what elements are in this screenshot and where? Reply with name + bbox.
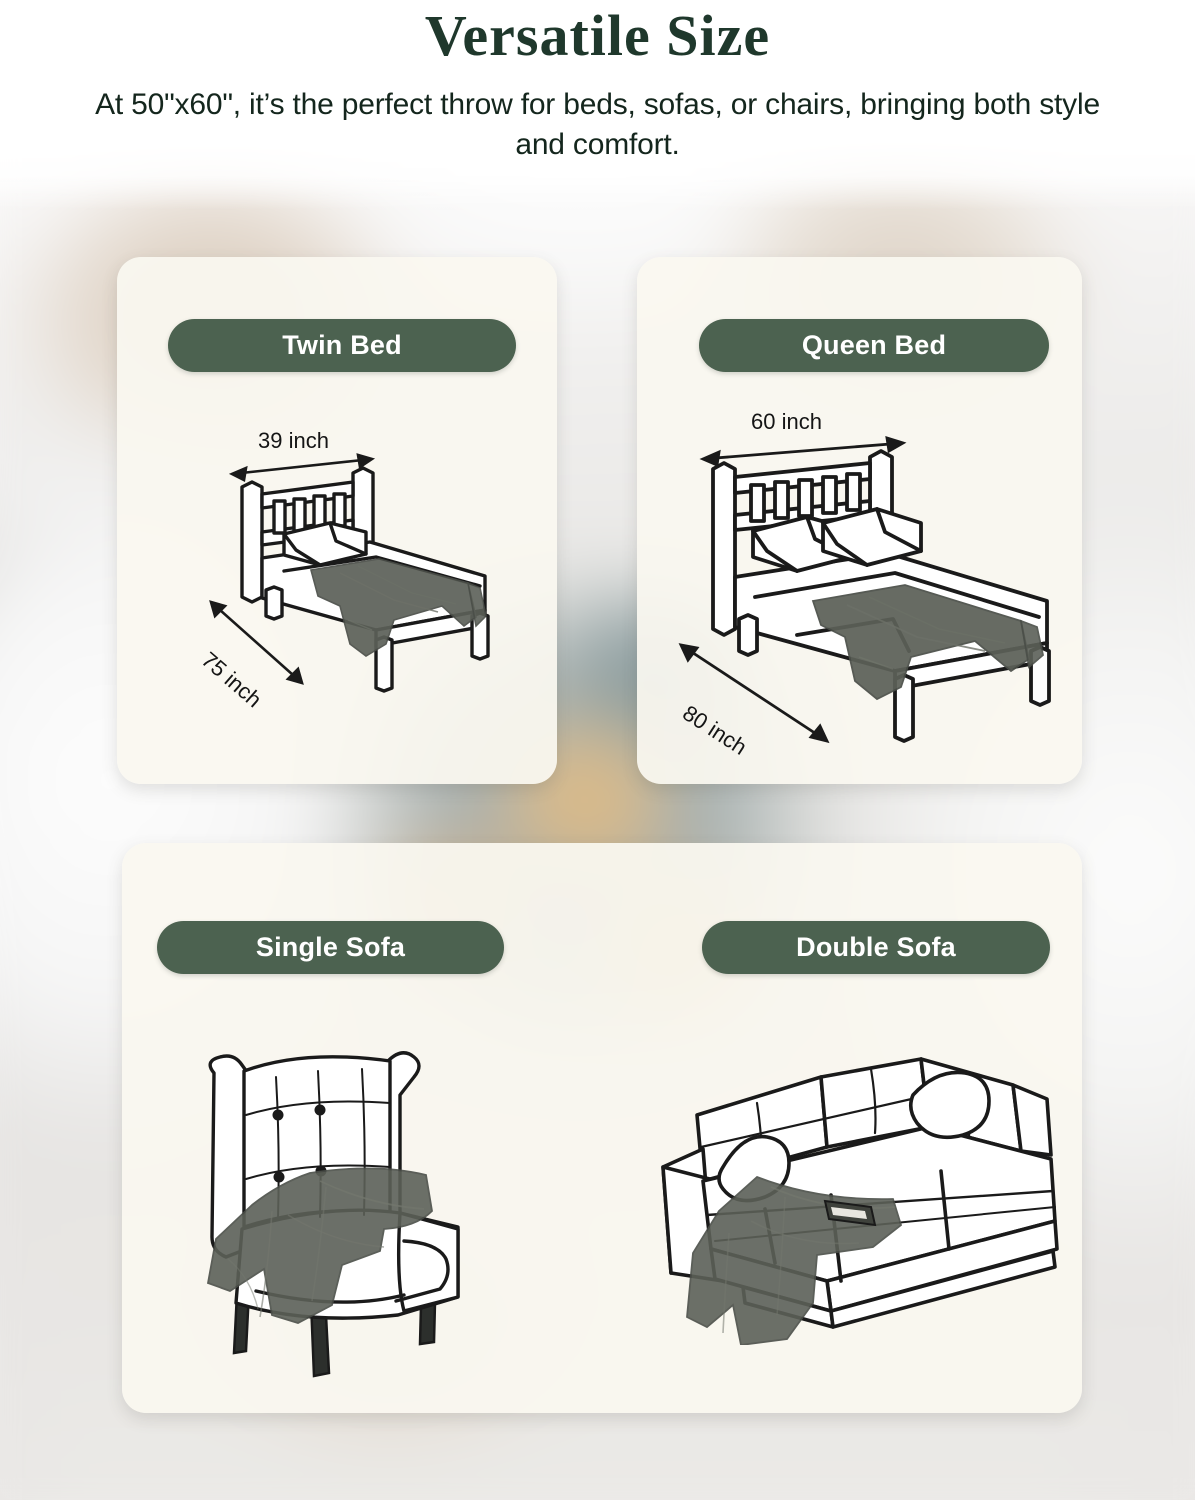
sectional-sofa-illustration <box>645 1035 1075 1345</box>
queen-bed-illustration: 60 inch 80 inch <box>655 405 1085 775</box>
label-pill-twin-bed: Twin Bed <box>168 319 516 372</box>
label-pill-single-sofa: Single Sofa <box>157 921 504 974</box>
dimension-label-39-inch: 39 inch <box>258 430 329 453</box>
armchair-illustration <box>160 1015 510 1385</box>
twin-bed-illustration: 39 inch 75 inch <box>180 430 560 720</box>
dimension-label-60-inch: 60 inch <box>751 409 822 434</box>
page-subtitle: At 50"x60", it’s the perfect throw for b… <box>93 85 1103 165</box>
infographic-page: Versatile Size At 50"x60", it’s the perf… <box>0 0 1195 1500</box>
label-pill-queen-bed: Queen Bed <box>699 319 1049 372</box>
dimension-label-80-inch: 80 inch <box>678 700 751 760</box>
label-pill-double-sofa: Double Sofa <box>702 921 1050 974</box>
page-title: Versatile Size <box>0 0 1195 67</box>
dimension-label-75-inch: 75 inch <box>197 647 267 712</box>
dimension-arrow-width <box>232 455 372 480</box>
header: Versatile Size At 50"x60", it’s the perf… <box>0 0 1195 165</box>
